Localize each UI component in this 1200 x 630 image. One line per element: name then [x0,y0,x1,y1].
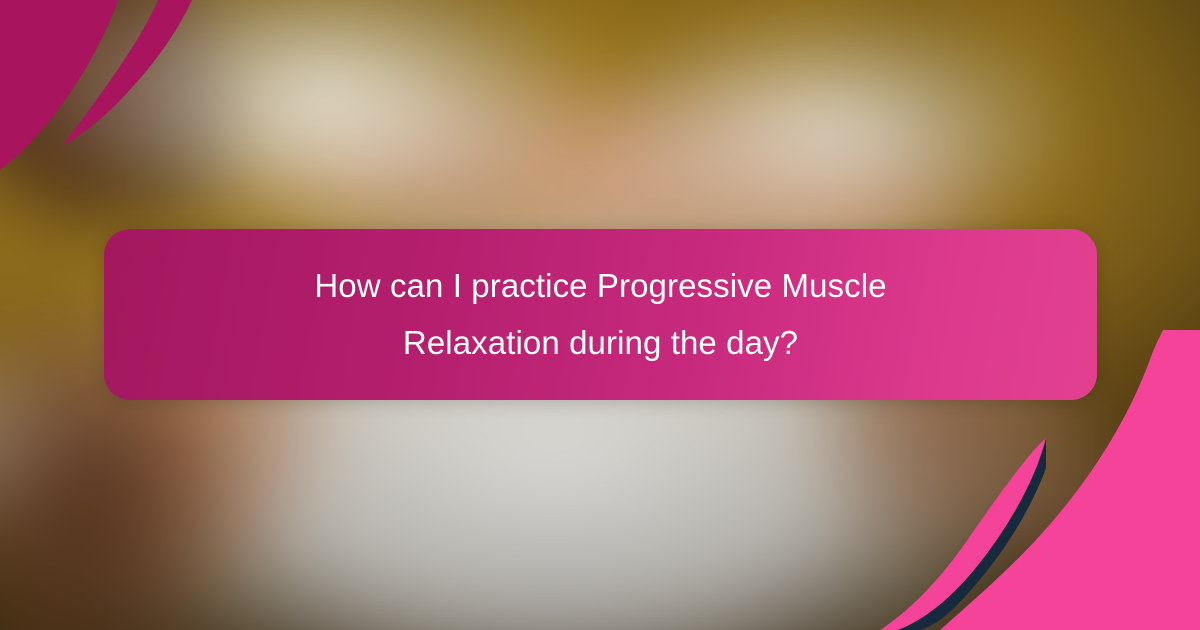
question-text: How can I practice Progressive Muscle Re… [217,258,985,372]
share-card-canvas: How can I practice Progressive Muscle Re… [0,0,1200,630]
question-card: How can I practice Progressive Muscle Re… [104,229,1097,400]
